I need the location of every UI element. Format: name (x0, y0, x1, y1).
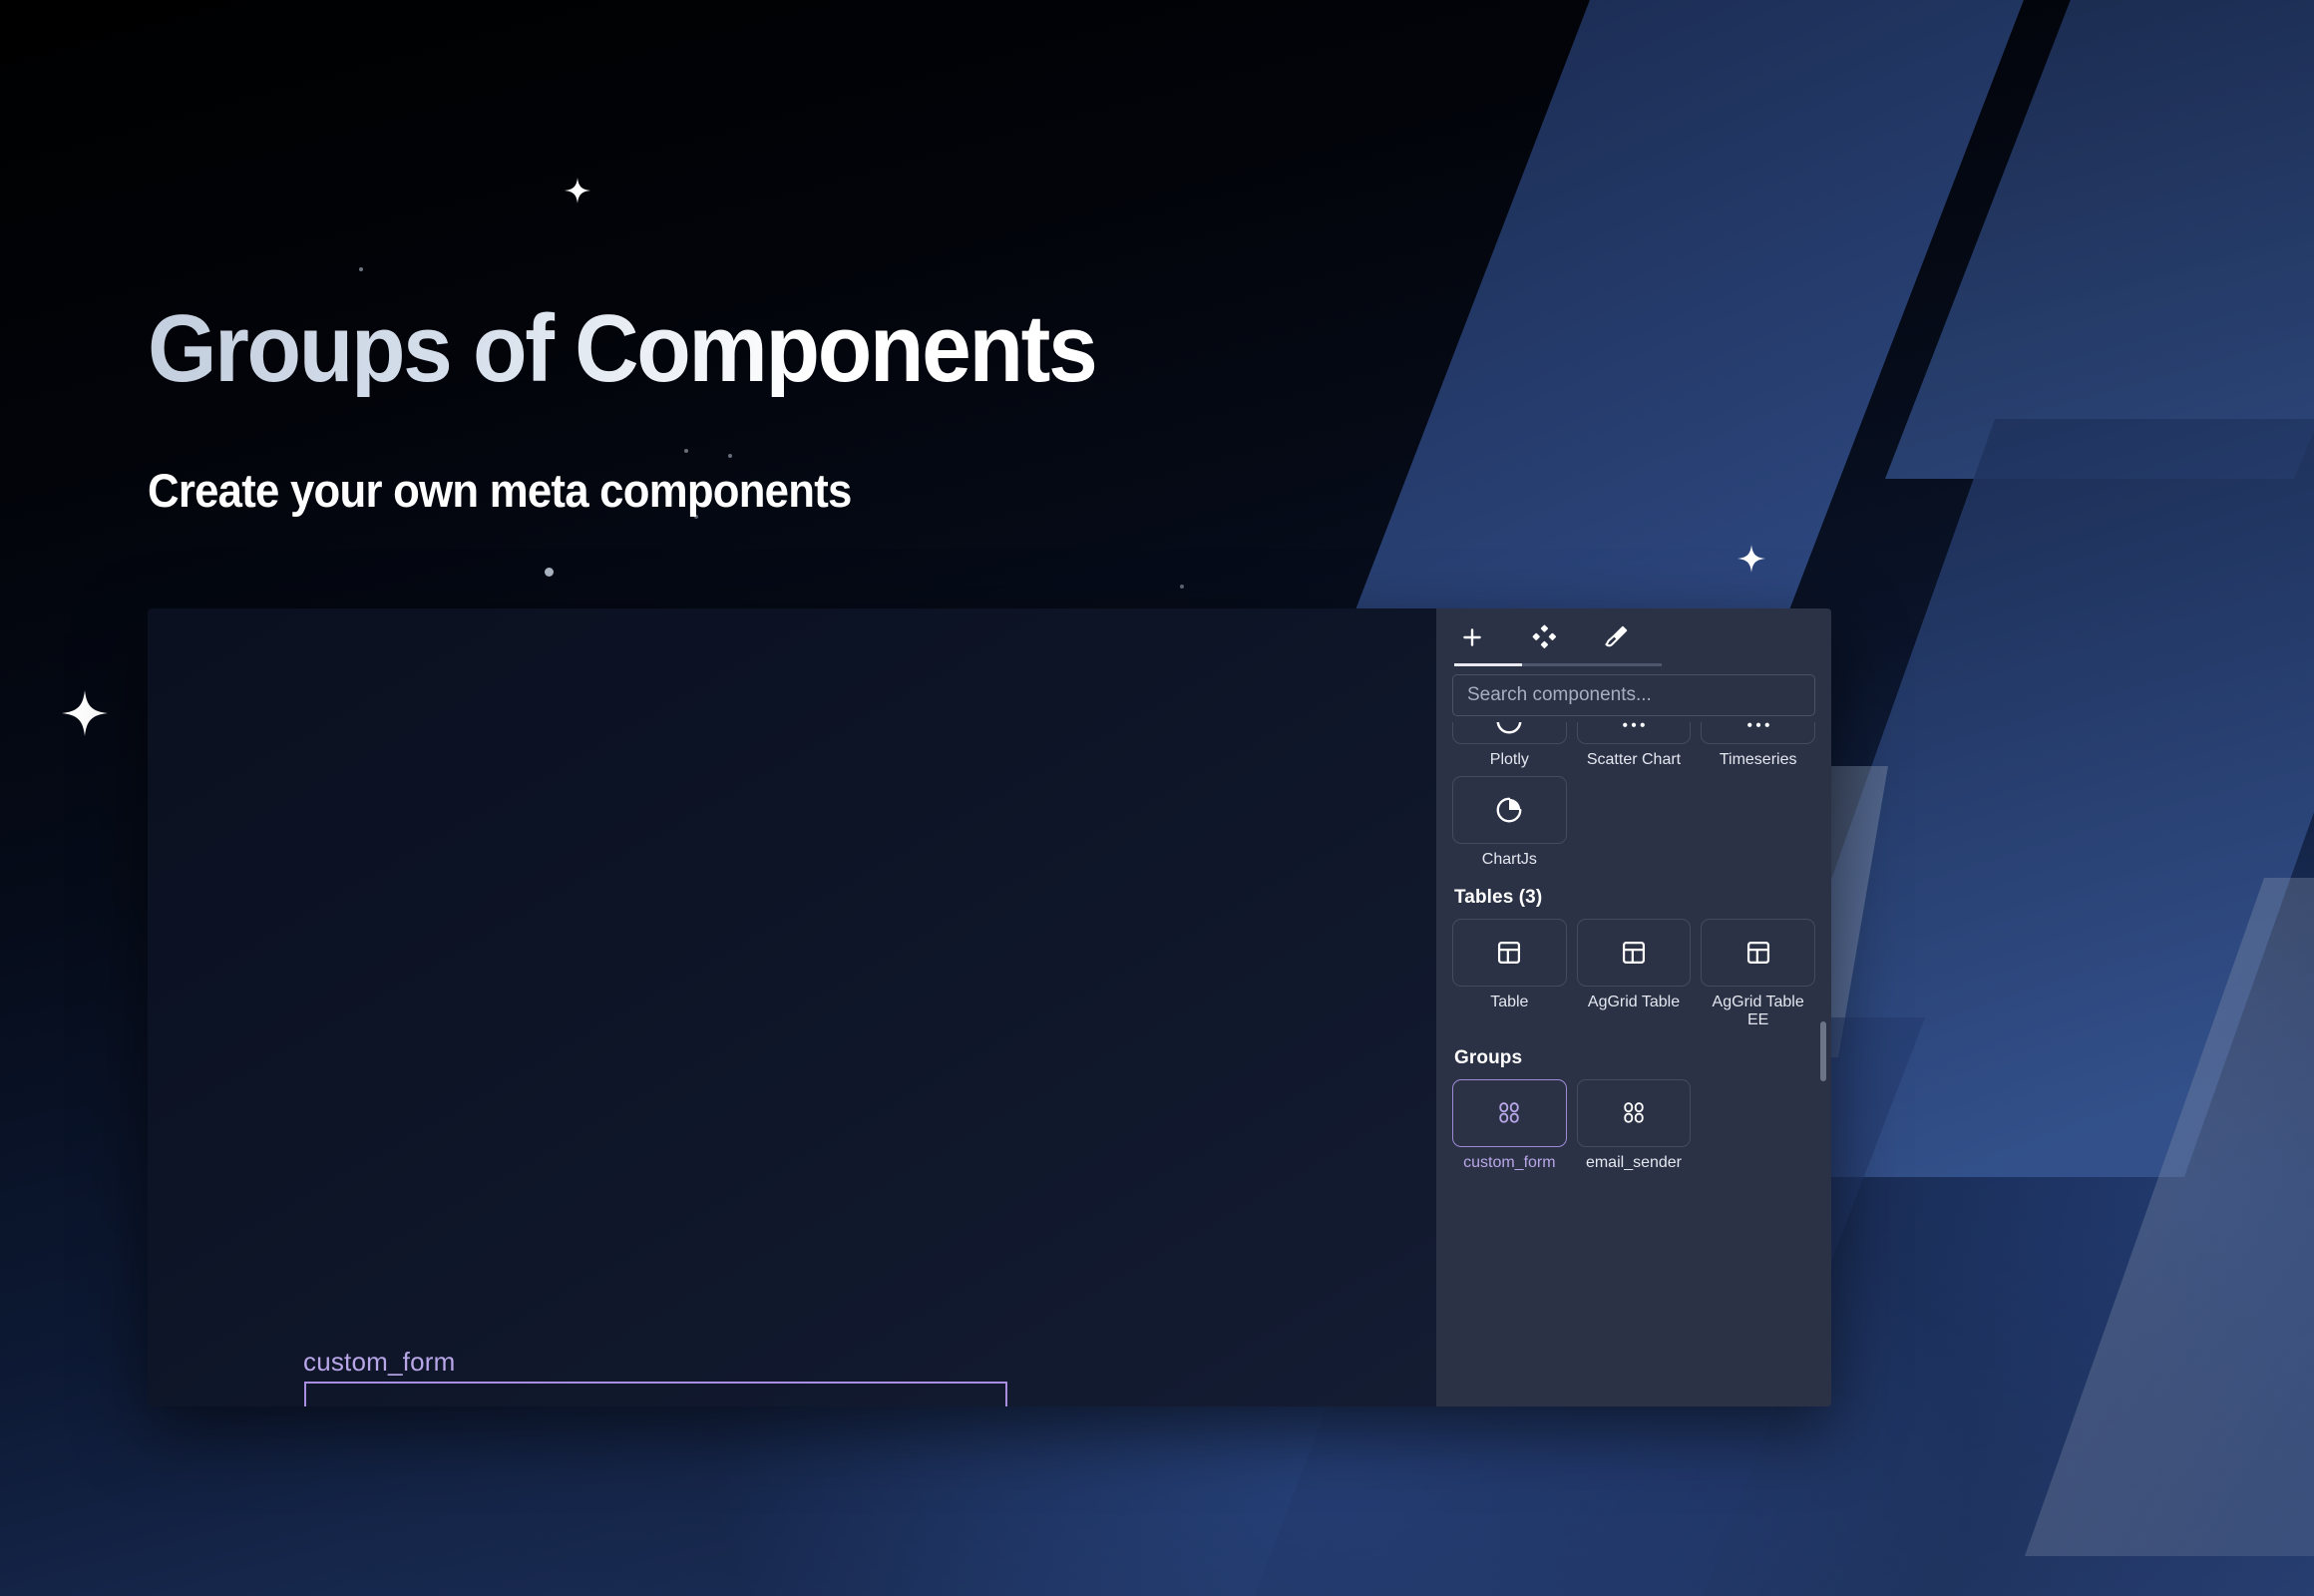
sparkle-icon (565, 178, 590, 203)
palette-item-label: Timeseries (1720, 751, 1797, 768)
timeseries-icon (1701, 722, 1815, 744)
app-window: custom_form Hello user! 0 10 7 Submit (148, 608, 1831, 1406)
palette-row-tables: Table AgGrid Table (1452, 919, 1815, 1029)
dust-dot (1180, 585, 1184, 589)
palette-item-label: ChartJs (1482, 851, 1537, 869)
palette-item-custom-form[interactable]: custom_form (1452, 1079, 1567, 1172)
table-icon (1452, 919, 1567, 987)
section-heading-tables: Tables (3) (1454, 887, 1815, 909)
palette-item-label: email_sender (1586, 1154, 1682, 1172)
palette-item-aggrid-table-ee[interactable]: AgGrid Table EE (1701, 919, 1815, 1029)
group-name-label: custom_form (303, 1349, 455, 1375)
group-icon (1577, 1079, 1692, 1147)
plus-icon (1459, 624, 1485, 650)
palette-search-wrap (1436, 666, 1831, 716)
group-selection-frame[interactable] (304, 1382, 1007, 1406)
pie-chart-icon (1452, 776, 1567, 844)
tab-underline (1454, 663, 1662, 666)
components-diamond-icon (1531, 624, 1557, 650)
palette-item-table[interactable]: Table (1452, 919, 1567, 1029)
dust-dot (545, 568, 554, 577)
palette-item-label: AgGrid Table EE (1701, 994, 1815, 1029)
palette-item-aggrid-table[interactable]: AgGrid Table (1577, 919, 1692, 1029)
palette-item-label: Table (1490, 994, 1528, 1011)
tab-components[interactable] (1508, 608, 1580, 666)
paintbrush-icon (1603, 624, 1629, 650)
tab-add-component[interactable] (1436, 608, 1508, 666)
palette-item-label: AgGrid Table (1588, 994, 1680, 1011)
scatter-chart-icon (1577, 722, 1692, 744)
palette-item-label: Scatter Chart (1587, 751, 1681, 768)
palette-item-plotly[interactable]: Plotly (1452, 722, 1567, 768)
palette-item-label: Plotly (1490, 751, 1529, 768)
component-palette-panel: Plotly Scatter Chart (1436, 608, 1831, 1406)
plotly-chart-icon (1452, 722, 1567, 744)
palette-tab-bar (1436, 608, 1831, 666)
table-icon (1701, 919, 1815, 987)
table-icon (1577, 919, 1692, 987)
palette-item-scatter-chart[interactable]: Scatter Chart (1577, 722, 1692, 768)
section-heading-groups: Groups (1454, 1047, 1815, 1069)
sparkle-icon (1737, 545, 1765, 573)
palette-row-charts-clipped: Plotly Scatter Chart (1452, 722, 1815, 768)
palette-item-chartjs[interactable]: ChartJs (1452, 776, 1567, 869)
dust-dot (728, 454, 732, 458)
page-title: Groups of Components (148, 301, 1095, 397)
palette-row-groups: custom_form email_sender (1452, 1079, 1815, 1172)
editor-canvas[interactable]: custom_form Hello user! 0 10 7 Submit (148, 608, 1436, 1406)
sparkle-icon (62, 690, 108, 736)
page-subtitle: Create your own meta components (148, 467, 852, 514)
dust-dot (684, 449, 688, 453)
palette-item-email-sender[interactable]: email_sender (1577, 1079, 1692, 1172)
group-icon (1452, 1079, 1567, 1147)
palette-item-label: custom_form (1463, 1154, 1555, 1172)
palette-scroll-area[interactable]: Plotly Scatter Chart (1436, 722, 1831, 1406)
palette-scrollbar-thumb[interactable] (1820, 1021, 1826, 1081)
dust-dot (359, 267, 363, 271)
tab-theme[interactable] (1580, 608, 1652, 666)
page-root: Groups of Components Create your own met… (0, 0, 2314, 1596)
search-input[interactable] (1452, 674, 1815, 716)
palette-row-chartjs: ChartJs (1452, 776, 1815, 869)
palette-item-timeseries[interactable]: Timeseries (1701, 722, 1815, 768)
